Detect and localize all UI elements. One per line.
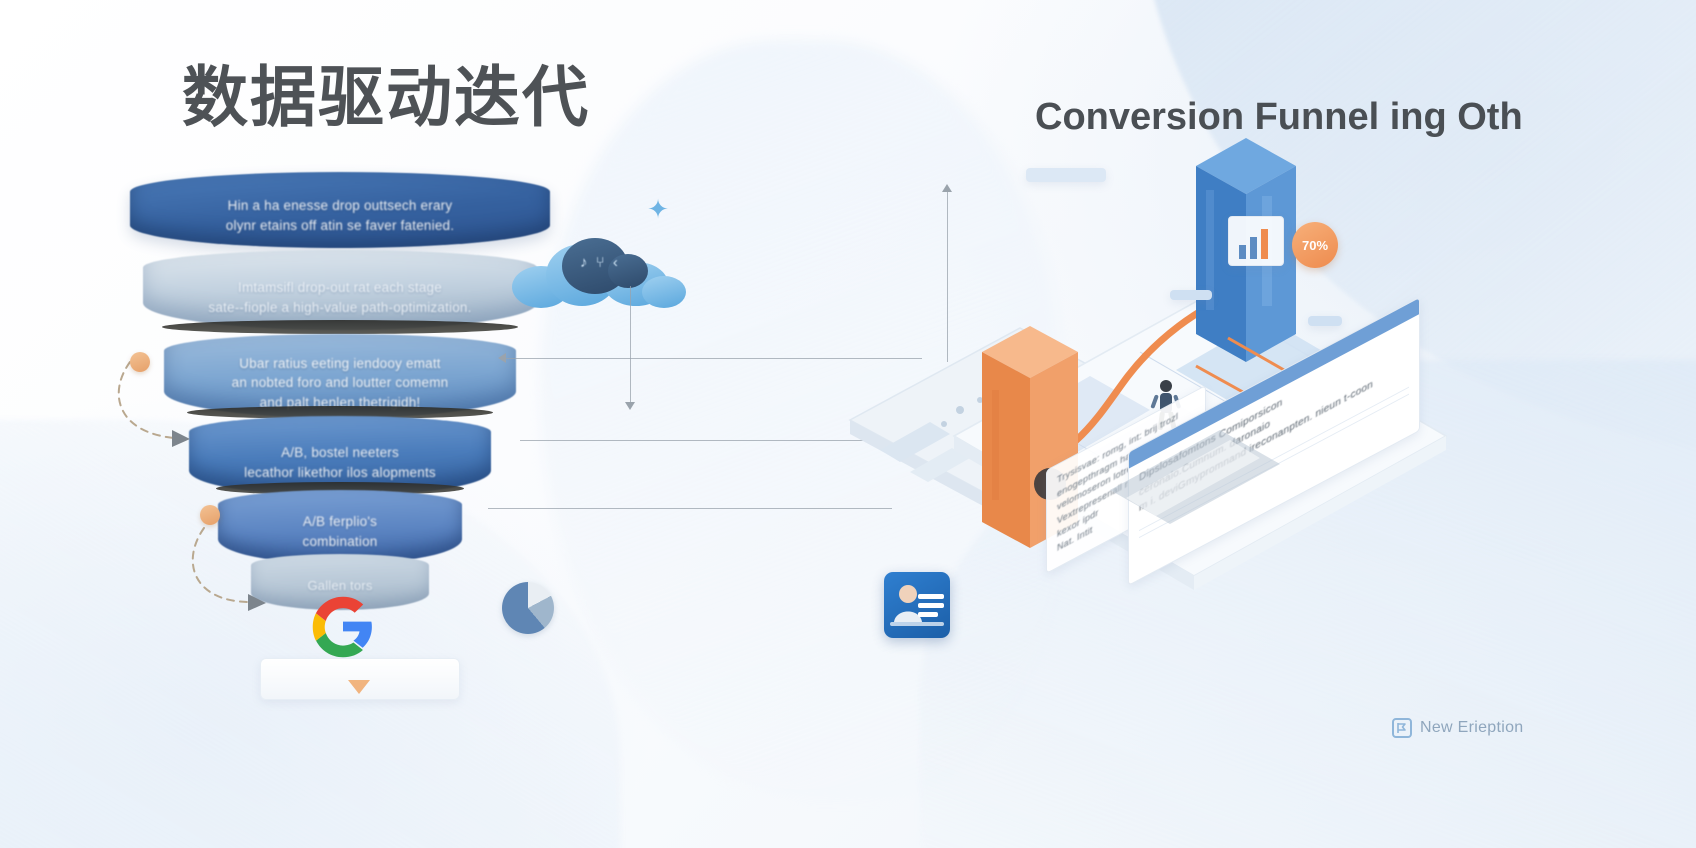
pie-chart-icon [502, 582, 554, 634]
sparkle-star-icon: ✦ [645, 196, 671, 222]
page-title-chinese: 数据驱动迭代 [182, 62, 590, 135]
watermark: New Erieption [1392, 718, 1524, 738]
conversion-badge: 70% [1292, 222, 1338, 268]
person-profile-icon[interactable] [884, 572, 950, 638]
flag-icon [1392, 718, 1412, 738]
scene-panel-label-1 [1170, 290, 1212, 300]
poster-canvas: 数据驱动迭代 Conversion Funnel ing Oth Hin a h… [0, 0, 1696, 848]
scene-striped-band [1110, 430, 1350, 550]
google-logo[interactable] [310, 594, 376, 660]
feedback-node-upper[interactable] [130, 352, 150, 372]
connector-vertical-cloud [630, 286, 631, 404]
cloud-icon[interactable]: ♪ ⑂ ‹ [512, 232, 686, 308]
funnel-rim-1 [162, 320, 518, 334]
funnel-layer-label: Hin a ha enesse drop outtsech erary olyn… [226, 184, 454, 235]
funnel-layer-label: Ubar ratius eeting iendooy ematt an nobt… [232, 340, 449, 413]
connector-arrow-cloud [625, 402, 635, 410]
bar-chart-mini-card[interactable] [1228, 216, 1284, 266]
connector-arrow-evaluation [498, 353, 506, 363]
connector-line-conversion [488, 508, 892, 509]
scene-panel-label-2 [1308, 316, 1342, 326]
funnel-layer-awareness[interactable]: Hin a ha enesse drop outtsech erary olyn… [130, 172, 550, 248]
down-arrow-icon [348, 680, 370, 694]
funnel-layer-label: Imtamsifl drop-out rat each stage sate--… [208, 262, 471, 317]
watermark-text: New Erieption [1420, 719, 1524, 737]
feedback-node-lower[interactable] [200, 505, 220, 525]
funnel-layer-label: A/B, bostel neeters lecathor likethor il… [244, 429, 436, 482]
funnel-layer-label: Gallen tors [307, 569, 372, 596]
scene-panel-label-0 [1026, 168, 1106, 182]
funnel-layer-interest[interactable]: Imtamsifl drop-out rat each stage sate--… [143, 250, 537, 330]
feedback-loop-arrow-lower [180, 510, 310, 620]
funnel-layer-label: A/B ferplio's combination [303, 502, 378, 551]
